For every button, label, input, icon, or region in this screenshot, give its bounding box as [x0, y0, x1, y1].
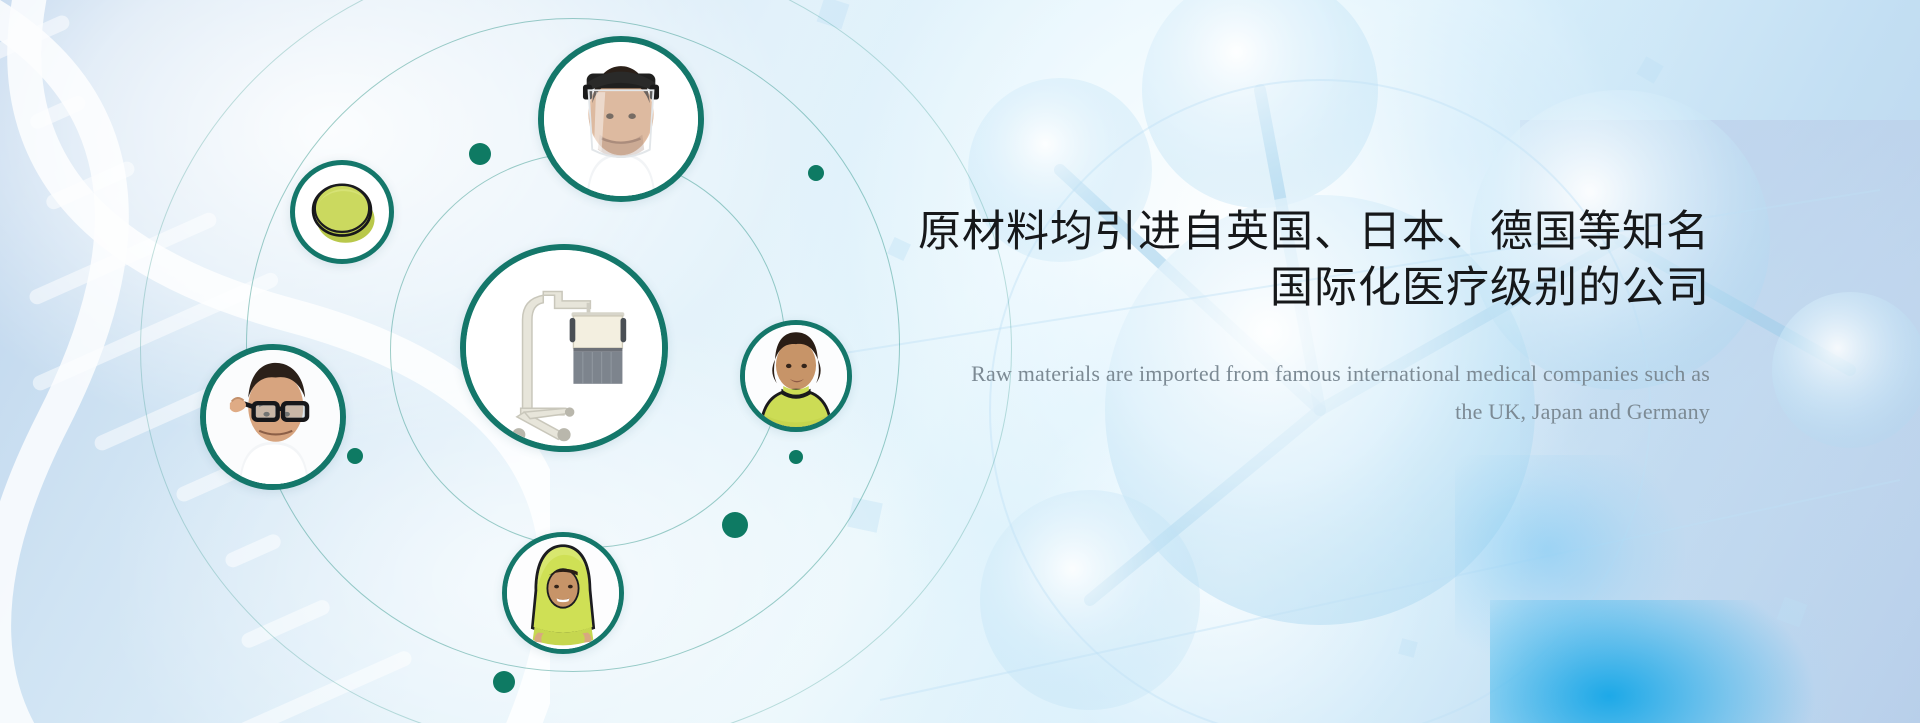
- bubble-protective-hood[interactable]: [502, 532, 624, 654]
- bubble-face-shield[interactable]: [538, 36, 704, 202]
- mobile-xray-shield-icon: [466, 250, 662, 446]
- headline-line-2: 国际化医疗级别的公司: [880, 261, 1710, 317]
- orbit-dot-5: [722, 512, 748, 538]
- headline: 原材料均引进自英国、日本、德国等知名 国际化医疗级别的公司: [880, 205, 1710, 317]
- bright-blue-blob-corner: [1490, 600, 1830, 723]
- banner-copy: 原材料均引进自英国、日本、德国等知名 国际化医疗级别的公司 Raw materi…: [880, 205, 1710, 430]
- headline-line-1: 原材料均引进自英国、日本、德国等知名: [918, 208, 1710, 256]
- subcopy-line-1: Raw materials are imported from famous i…: [880, 355, 1710, 393]
- protective-hood-icon: [507, 537, 619, 649]
- bubble-lead-glasses[interactable]: [200, 344, 346, 490]
- bubble-thyroid-collar[interactable]: [740, 320, 852, 432]
- bubble-mobile-xray-shield[interactable]: [460, 244, 668, 452]
- lead-cap-icon: [295, 165, 389, 259]
- thyroid-collar-icon: [745, 325, 847, 427]
- face-shield-icon: [544, 42, 698, 196]
- blue-atom-lower-right: [1455, 455, 1685, 665]
- orbit-dot-1: [469, 143, 491, 165]
- bubble-lead-cap[interactable]: [290, 160, 394, 264]
- orbit-dot-4: [789, 450, 803, 464]
- orbit-dot-2: [808, 165, 824, 181]
- hero-banner: 原材料均引进自英国、日本、德国等知名 国际化医疗级别的公司 Raw materi…: [0, 0, 1920, 723]
- orbit-dot-6: [493, 671, 515, 693]
- subcopy-line-2: the UK, Japan and Germany: [880, 393, 1710, 431]
- subcopy: Raw materials are imported from famous i…: [880, 355, 1710, 431]
- lead-glasses-icon: [206, 350, 340, 484]
- orbit-dot-3: [347, 448, 363, 464]
